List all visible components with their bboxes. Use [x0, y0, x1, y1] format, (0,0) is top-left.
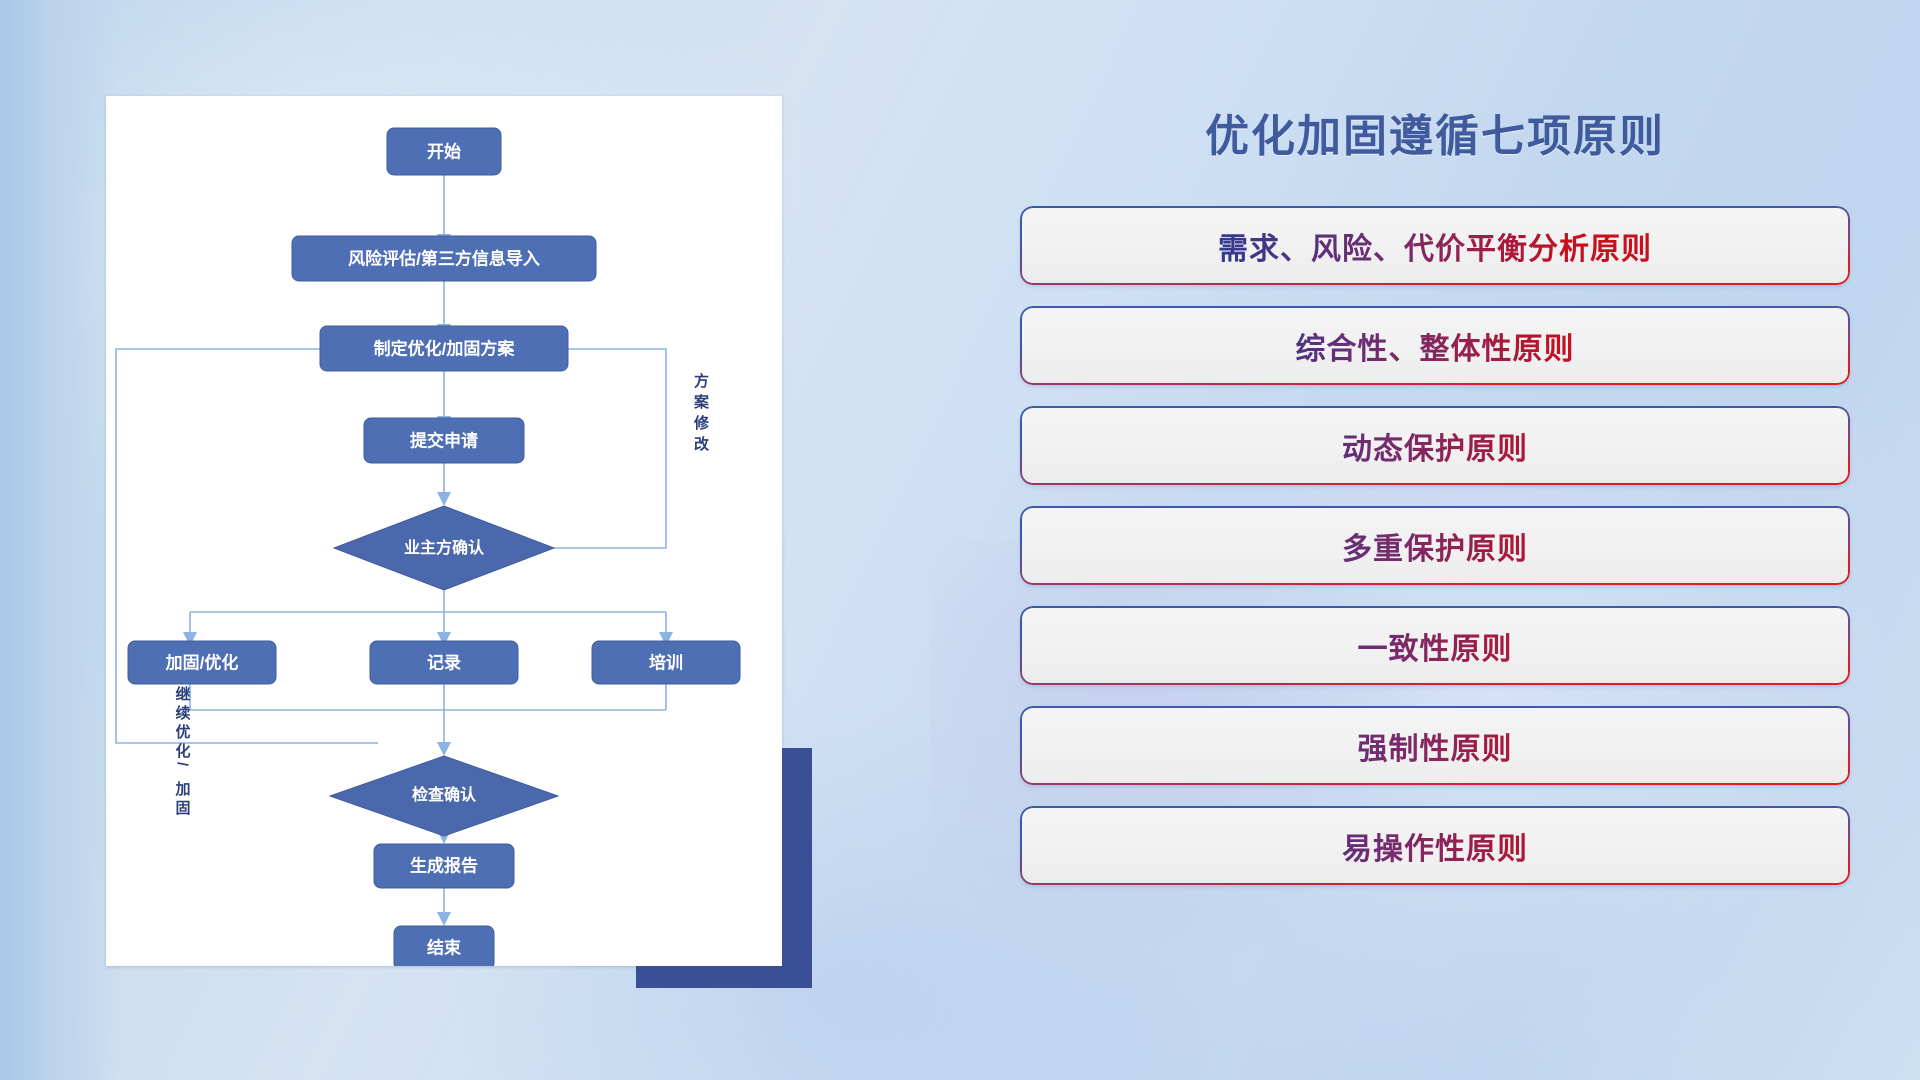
flow-node-check-label: 检查确认	[412, 785, 477, 804]
principle-card-2[interactable]: 综合性、整体性原则	[1020, 306, 1850, 385]
page-title: 优化加固遵循七项原则	[1020, 100, 1850, 164]
principle-card-4-label: 多重保护原则	[1020, 506, 1850, 585]
flow-node-start[interactable]: 开始	[387, 128, 501, 175]
principle-card-1[interactable]: 需求、风险、代价平衡分析原则	[1020, 206, 1850, 285]
flow-node-record-label: 记录	[427, 653, 461, 672]
principle-card-4[interactable]: 多重保护原则	[1020, 506, 1850, 585]
flow-node-start-label: 开始	[427, 141, 461, 161]
flow-node-reinforce-label: 加固/优化	[165, 652, 239, 672]
principle-card-3[interactable]: 动态保护原则	[1020, 406, 1850, 485]
principles-panel: 优化加固遵循七项原则 需求、风险、代价平衡分析原则 综合性、整体性原则 动态保护…	[1020, 100, 1850, 1000]
flow-edge-label-left: 继续优化/加固	[174, 685, 192, 816]
background-left-band	[0, 0, 120, 1080]
principle-card-6-label: 强制性原则	[1020, 706, 1850, 785]
flow-node-plan-label: 制定优化/加固方案	[374, 338, 516, 358]
flow-node-submit-label: 提交申请	[410, 430, 478, 450]
flow-node-report[interactable]: 生成报告	[374, 844, 514, 888]
flow-node-record[interactable]: 记录	[370, 641, 518, 684]
principle-card-6[interactable]: 强制性原则	[1020, 706, 1850, 785]
flow-node-owner-confirm-label: 业主方确认	[404, 538, 485, 557]
flow-node-training[interactable]: 培训	[592, 641, 740, 684]
principle-card-7[interactable]: 易操作性原则	[1020, 806, 1850, 885]
principle-card-5-label: 一致性原则	[1020, 606, 1850, 685]
flow-node-report-label: 生成报告	[410, 855, 478, 875]
flow-node-risk-label: 风险评估/第三方信息导入	[348, 248, 540, 268]
flow-node-check[interactable]: 检查确认	[330, 756, 558, 836]
principle-card-7-label: 易操作性原则	[1020, 806, 1850, 885]
flow-node-owner-confirm[interactable]: 业主方确认	[334, 506, 554, 590]
flow-node-submit[interactable]: 提交申请	[364, 418, 524, 463]
principle-card-2-label: 综合性、整体性原则	[1020, 306, 1850, 385]
flow-node-training-label: 培训	[649, 652, 683, 672]
flow-node-reinforce[interactable]: 加固/优化	[128, 641, 276, 684]
flow-edge-label-right: 方案修改	[693, 372, 710, 453]
flow-node-risk[interactable]: 风险评估/第三方信息导入	[292, 236, 596, 281]
flowchart-card: 继续优化/加固 方案修改 开始 风险评估/第三方信息导入 制定优化/加固方案 提…	[106, 96, 782, 966]
principle-card-1-label: 需求、风险、代价平衡分析原则	[1020, 206, 1850, 285]
principle-card-3-label: 动态保护原则	[1020, 406, 1850, 485]
flow-node-end-label: 结束	[427, 937, 461, 957]
flow-node-plan[interactable]: 制定优化/加固方案	[320, 326, 568, 371]
flow-node-end[interactable]: 结束	[394, 926, 494, 966]
principle-card-5[interactable]: 一致性原则	[1020, 606, 1850, 685]
flowchart-canvas: 继续优化/加固 方案修改 开始 风险评估/第三方信息导入 制定优化/加固方案 提…	[106, 96, 782, 966]
